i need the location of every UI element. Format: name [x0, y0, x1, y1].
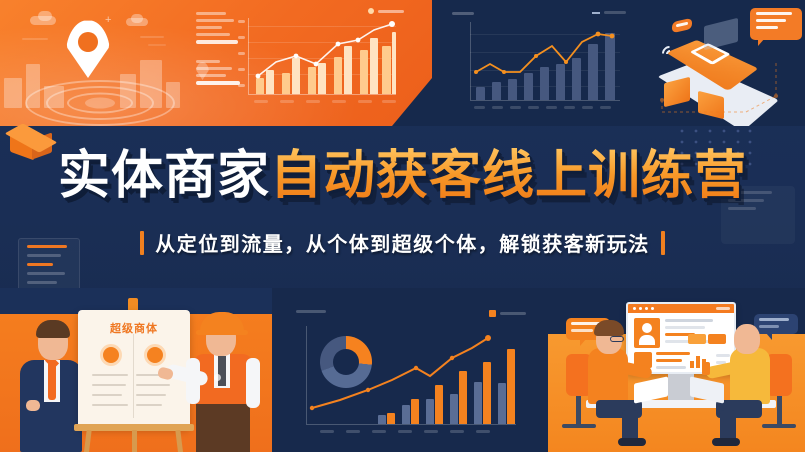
check-badge-icon [100, 344, 122, 366]
subtitle-text: 从定位到流量，从个体到超级个体，解锁获客新玩法 [155, 228, 650, 257]
screen-button [688, 334, 706, 344]
monitor-screen [626, 302, 736, 374]
navy-dashboard-chart [446, 8, 626, 118]
window-title-bar [628, 304, 734, 313]
chart-trend-line [292, 310, 530, 438]
screen-list [656, 352, 690, 369]
phone-icon [702, 362, 710, 375]
cloud-icon [131, 14, 143, 23]
orange-dashboard-chart [196, 6, 406, 118]
line-decor [140, 36, 164, 38]
chart-bars [252, 18, 396, 94]
left-scene-layer: 超级商体 [0, 288, 272, 452]
chart-legend [196, 12, 242, 89]
screen-button [708, 334, 726, 344]
chat-bubble-navy-tail [766, 333, 772, 340]
chat-bubble-navy [754, 314, 798, 334]
bottom-band: 超级商体 [0, 288, 805, 452]
circuit-lines [626, 0, 805, 126]
title-band: 实体商家自动获客线上训练营 从定位到流量，从个体到超级个体，解锁获客新玩法 [0, 110, 805, 288]
line-decor [22, 38, 48, 40]
line-decor [148, 44, 166, 46]
promo-poster: + [0, 0, 805, 452]
subtitle-accent-right [661, 231, 665, 255]
cloud-icon [38, 11, 52, 21]
subtitle-accent-left [140, 231, 144, 255]
chat-bubble-orange-tail [580, 339, 586, 346]
title-white-part: 实体商家 [58, 147, 270, 205]
title-orange-part: 自动获客线上训练营 [270, 147, 747, 205]
glasses-icon [610, 336, 624, 342]
chart-trend-line [446, 8, 626, 118]
location-badge-icon [144, 344, 166, 366]
subtitle-row: 从定位到流量，从个体到超级个体，解锁获客新玩法 [0, 228, 805, 257]
isometric-platform-stack [626, 0, 805, 126]
map-pin-icon [66, 20, 110, 78]
board-title: 超级商体 [78, 320, 190, 336]
sparkle-icon: + [105, 14, 111, 26]
profile-card [634, 318, 660, 348]
page-title: 实体商家自动获客线上训练营 [0, 150, 805, 202]
office-scene-layer [560, 296, 798, 452]
top-banner-band: + [0, 0, 805, 126]
chart-legend-key [368, 8, 404, 14]
bottom-mixed-chart [292, 310, 530, 438]
